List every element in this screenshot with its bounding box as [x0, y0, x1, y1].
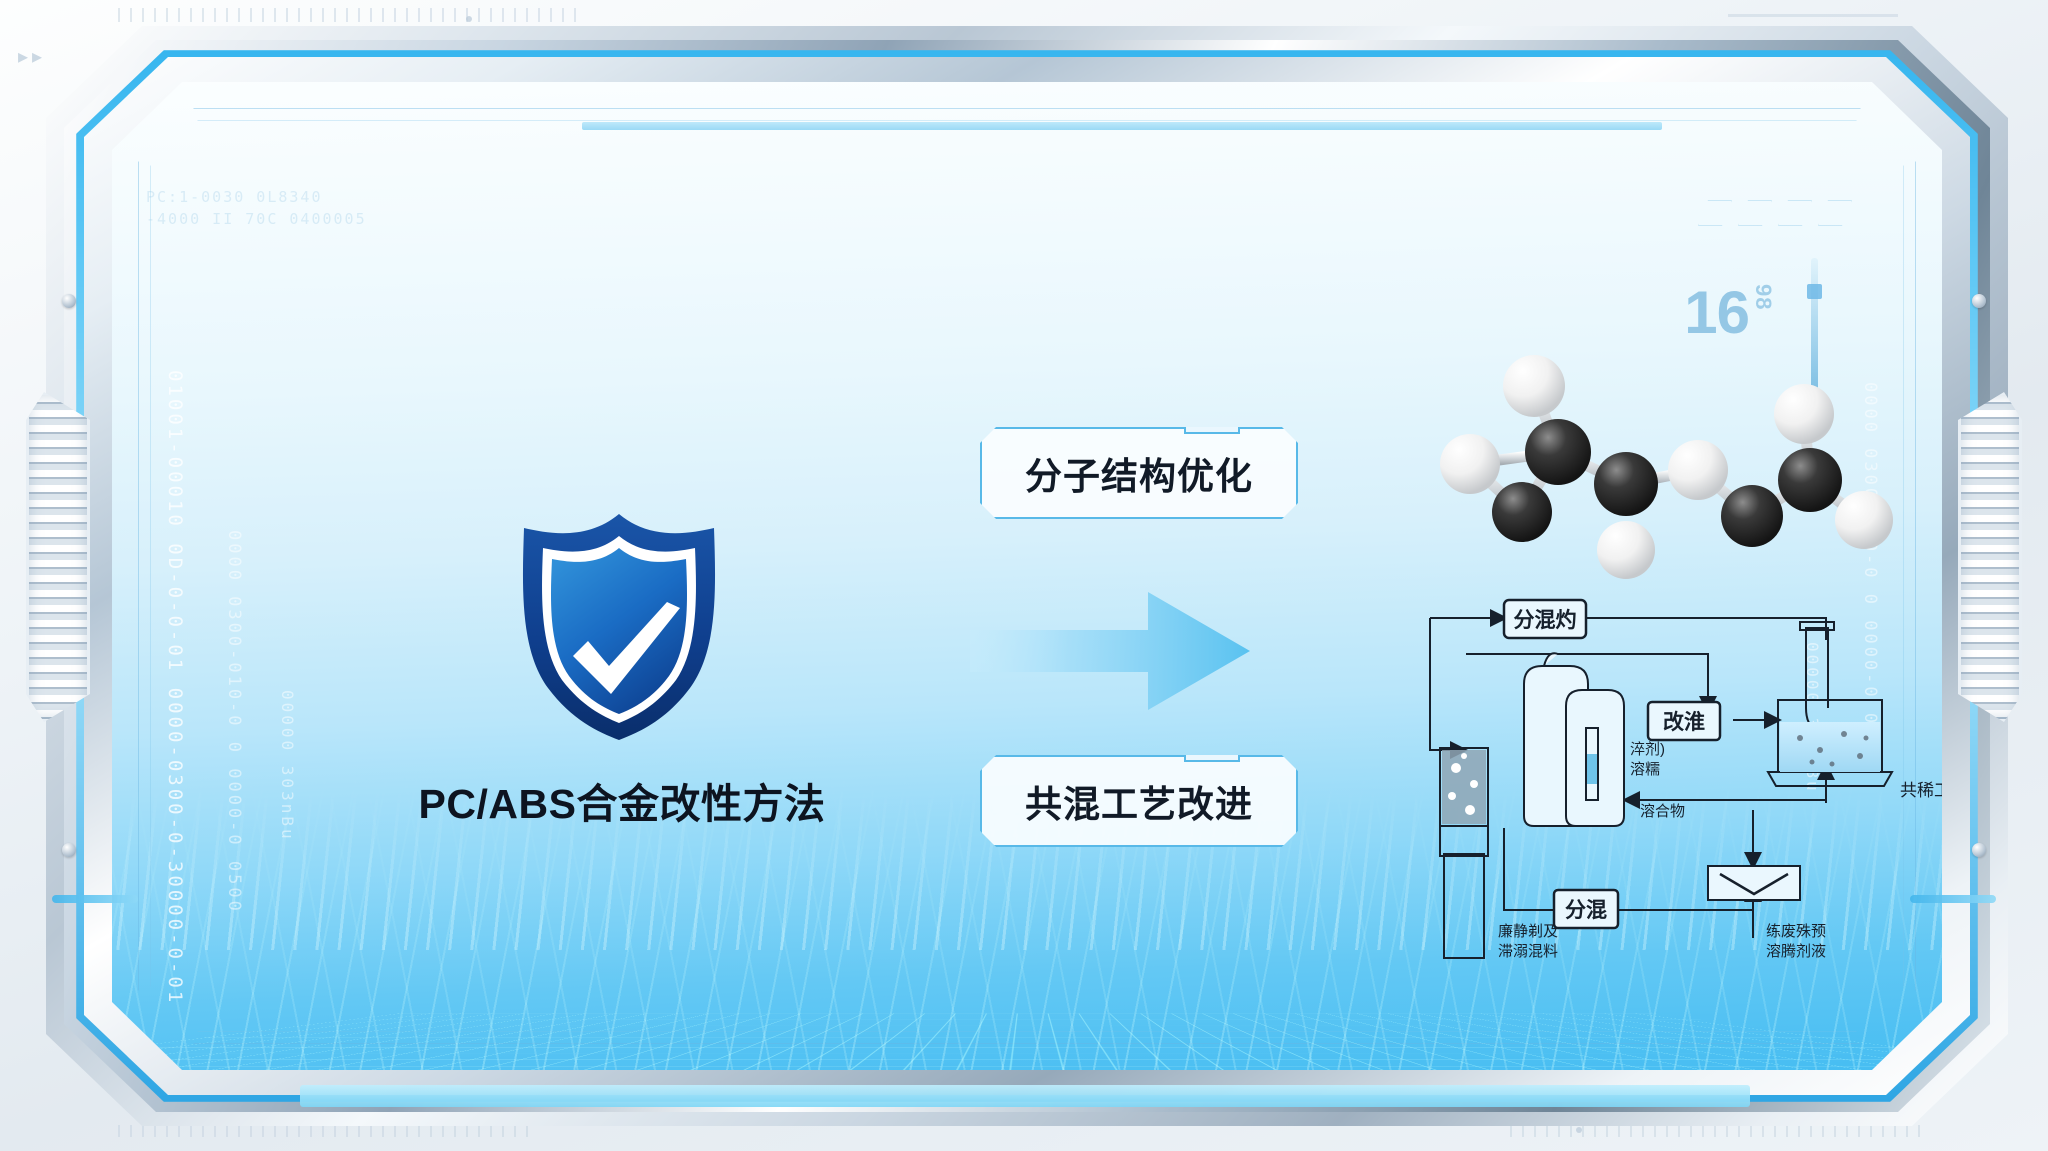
process-label-left-foot-line1: 廉静剃及	[1498, 923, 1558, 940]
chevron-shape-4	[1818, 200, 1852, 226]
frame-bottom-inlay	[300, 1085, 1750, 1107]
flow-arrow-right-icon	[970, 590, 1250, 712]
backdrop-hatch-bottom	[118, 1125, 538, 1137]
screen-top-inlay	[582, 122, 1662, 130]
frame-screw-bottom-left	[62, 843, 76, 857]
badge-blending-process[interactable]: 共混工艺改进	[980, 755, 1298, 847]
chevron-shape-2	[1738, 200, 1772, 226]
hud-indicator-pip	[1807, 284, 1822, 299]
page-title: PC/ABS合金改性方法	[362, 770, 882, 830]
vent-panel-right	[1958, 392, 2022, 722]
backdrop-dot-1	[466, 16, 472, 22]
process-title-note: 共稀工艺	[1900, 781, 1942, 800]
chevron-shape-1	[1698, 200, 1732, 226]
process-label-return: 溶合物	[1640, 803, 1685, 820]
backdrop-chevrons: ▸▸	[18, 44, 46, 69]
process-flow-diagram: 分混灼 改淮 分混 淬剂) 溶糯 溶合物 廉静剃及 滞溺混料 练废殊预 溶腾剂液…	[1408, 588, 1942, 978]
slide-canvas: ▸▸ PC:1-0030 0L8340 -4000 II 70C 0400005…	[0, 0, 2048, 1151]
hud-top-text-2: -4000 II 70C 0400005	[146, 210, 367, 228]
badge-bottom-notch	[1184, 755, 1240, 762]
molecule-ball-stick-icon	[1430, 344, 1900, 584]
vent-panel-left	[26, 392, 90, 722]
digit-column-3: 00000 303nBu	[278, 690, 297, 842]
frame-screw-top-right	[1972, 294, 1986, 308]
badge-molecular-structure[interactable]: 分子结构优化	[980, 427, 1298, 519]
backdrop-hatch-bottom-right	[1510, 1125, 1930, 1137]
process-label-left-foot-line2: 滞溺混料	[1498, 943, 1558, 960]
shield-check-icon	[510, 510, 728, 742]
backdrop-dot-2	[1576, 1127, 1582, 1133]
process-label-tank-line1: 淬剂)	[1630, 741, 1665, 758]
process-label-right-foot-line1: 练废殊预	[1766, 923, 1826, 940]
display-screen: PC:1-0030 0L8340 -4000 II 70C 0400005 16…	[112, 82, 1942, 1070]
process-box-top-label: 分混灼	[1514, 608, 1577, 632]
hud-chevron-row	[1698, 200, 1852, 226]
backdrop-hatch-top	[118, 8, 578, 22]
digit-column-2: 0000 0300-010-0 0 0000-0 0500	[224, 530, 244, 914]
backdrop-tick-3	[1728, 14, 1898, 17]
badge-top-notch	[1184, 427, 1240, 434]
badge-blending-process-label: 共混工艺改进	[1025, 774, 1253, 828]
hud-top-text-1: PC:1-0030 0L8340	[146, 188, 323, 206]
process-label-right-foot-line2: 溶腾剂液	[1766, 943, 1826, 960]
hud-counter-value: 16	[1684, 278, 1749, 347]
frame-screw-bottom-right	[1972, 843, 1986, 857]
frame-accent-tab-right	[1910, 895, 1996, 903]
process-box-middle-label: 改淮	[1663, 710, 1705, 734]
frame-accent-tab-left	[52, 895, 138, 903]
process-label-tank-line2: 溶糯	[1630, 761, 1660, 778]
badge-molecular-structure-label: 分子结构优化	[1025, 446, 1253, 500]
digit-column-1: 01001-00010 0D-0-0-01 0000-0300-0-30000-…	[164, 370, 186, 1005]
hud-counter-suffix: 98	[1752, 284, 1774, 310]
process-box-bottom-label: 分混	[1565, 899, 1607, 922]
chevron-shape-3	[1778, 200, 1812, 226]
frame-screw-top-left	[62, 294, 76, 308]
hud-counter: 16 98	[1684, 278, 1774, 347]
